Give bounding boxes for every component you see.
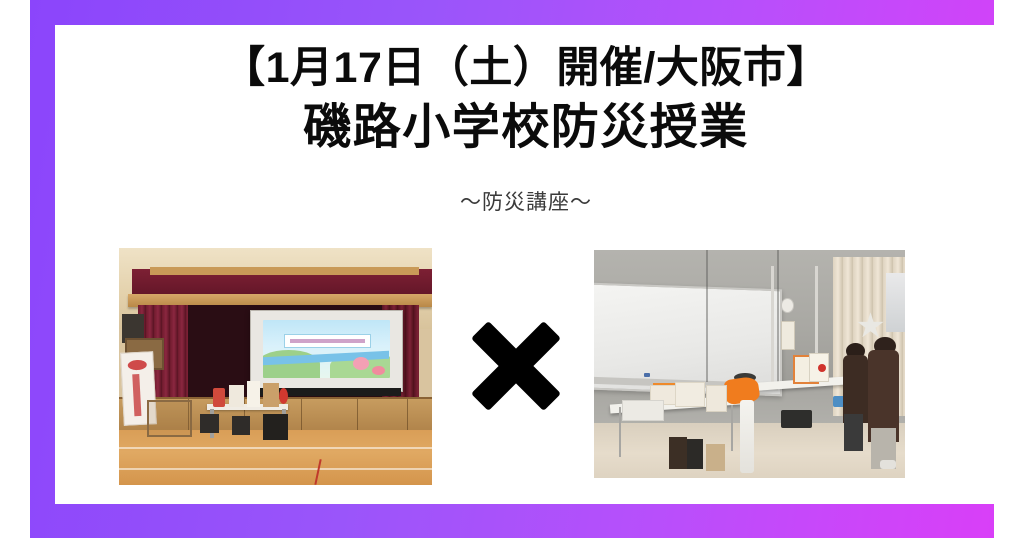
- exhibit-device: [622, 400, 664, 420]
- gymnasium-scene: [119, 248, 432, 485]
- person-1-shoes: [880, 460, 896, 469]
- floor-bag-1: [669, 437, 688, 469]
- multiply-icon: [470, 320, 562, 412]
- photo-classroom-exhibit: ★: [594, 250, 905, 478]
- title-line-1: 【1月17日（土）開催/大阪市】: [55, 44, 997, 94]
- floor-basket: [781, 410, 812, 428]
- person-2-legs: [844, 414, 863, 450]
- wall-notice: [781, 321, 795, 350]
- exhibit-tall-white-item: [740, 400, 754, 473]
- exhibit-box-3: [706, 385, 727, 412]
- floor-bag-2: [687, 439, 703, 469]
- exhibit-box-2: [675, 382, 705, 407]
- projected-slide: [263, 320, 389, 378]
- slide-title-box: [284, 334, 372, 348]
- poster-canvas: 【1月17日（土）開催/大阪市】 磯路小学校防災授業 〜防災講座〜: [0, 0, 1024, 538]
- photo-gymnasium-stage: [119, 248, 432, 485]
- title-line-2: 磯路小学校防災授業: [55, 100, 997, 157]
- subtitle: 〜防災講座〜: [55, 186, 997, 216]
- classroom-scene: ★: [594, 250, 905, 478]
- whiteboard-marker: [644, 373, 650, 377]
- gym-upper-beam: [150, 267, 419, 275]
- star-decoration-icon: ★: [855, 309, 889, 339]
- wall-clock: [781, 298, 794, 313]
- page-title: 【1月17日（土）開催/大阪市】 磯路小学校防災授業: [55, 44, 997, 157]
- floor-bag-3: [706, 444, 725, 471]
- projection-screen: [250, 310, 402, 393]
- slide-badge-2: [372, 366, 385, 375]
- gym-chair: [147, 400, 192, 437]
- person-2-body: [843, 355, 868, 423]
